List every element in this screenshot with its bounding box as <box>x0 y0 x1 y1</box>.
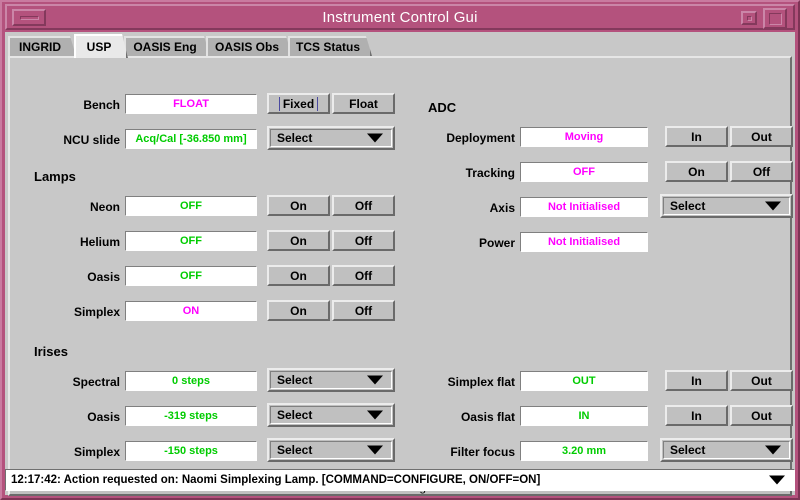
iris-spectral-select[interactable]: Select <box>267 368 395 392</box>
chevron-down-icon <box>765 446 781 455</box>
tab-oasis-obs[interactable]: OASIS Obs <box>206 36 292 56</box>
button-label: Float <box>349 97 378 111</box>
lamp-oasis-off-button[interactable]: Off <box>332 265 395 286</box>
iris-simplex-label: Simplex <box>40 445 120 459</box>
restore-icon <box>747 16 752 21</box>
combo-inner: Select <box>663 197 790 215</box>
button-label: In <box>691 374 702 388</box>
iris-oasis-value: -319 steps <box>125 406 257 426</box>
adc-tracking-off-button[interactable]: Off <box>730 161 793 182</box>
lamp-oasis-on-button[interactable]: On <box>267 265 330 286</box>
adc-tracking-value: OFF <box>520 162 648 182</box>
lamp-oasis-label: Oasis <box>40 270 120 284</box>
adc-tracking-on-button[interactable]: On <box>665 161 728 182</box>
combo-value: Select <box>277 443 312 457</box>
button-label: Off <box>355 234 372 248</box>
lamp-helium-value: OFF <box>125 231 257 251</box>
tab-label: INGRID <box>19 40 61 54</box>
button-label: On <box>290 269 307 283</box>
tab-label: TCS Status <box>296 40 360 54</box>
button-label: In <box>691 409 702 423</box>
oasis-flat-value: IN <box>520 406 648 426</box>
window-title: Instrument Control Gui <box>7 6 793 28</box>
bench-label: Bench <box>40 98 120 112</box>
adc-power-value: Not Initialised <box>520 232 648 252</box>
combo-inner: Select <box>270 129 392 147</box>
tab-label: USP <box>87 40 112 54</box>
chevron-down-icon <box>765 202 781 211</box>
iris-oasis-select[interactable]: Select <box>267 403 395 427</box>
bench-fixed-button[interactable]: Fixed <box>267 93 330 114</box>
button-label: Off <box>355 304 372 318</box>
lamps-section-title: Lamps <box>34 169 76 184</box>
adc-section-title: ADC <box>428 100 456 115</box>
button-label: Out <box>751 130 772 144</box>
adc-axis-label: Axis <box>410 201 515 215</box>
lamp-simplex-off-button[interactable]: Off <box>332 300 395 321</box>
lamp-neon-off-button[interactable]: Off <box>332 195 395 216</box>
combo-value: Select <box>277 131 312 145</box>
bench-float-button[interactable]: Float <box>332 93 395 114</box>
combo-inner: Select <box>270 371 392 389</box>
chevron-down-icon <box>367 411 383 420</box>
button-label: Off <box>753 165 770 179</box>
chevron-down-icon <box>367 376 383 385</box>
lamp-neon-label: Neon <box>40 200 120 214</box>
lamp-oasis-value: OFF <box>125 266 257 286</box>
button-label: On <box>290 304 307 318</box>
tab-label: OASIS Obs <box>215 40 279 54</box>
tab-usp[interactable]: USP <box>74 34 128 58</box>
combo-value: Select <box>277 373 312 387</box>
button-label: On <box>290 199 307 213</box>
lamp-neon-on-button[interactable]: On <box>267 195 330 216</box>
application-window: Instrument Control Gui INGRID USP OASIS … <box>0 0 800 500</box>
iris-oasis-label: Oasis <box>40 410 120 424</box>
oasis-flat-in-button[interactable]: In <box>665 405 728 426</box>
lamp-simplex-on-button[interactable]: On <box>267 300 330 321</box>
button-label: On <box>688 165 705 179</box>
combo-inner: Select <box>270 441 392 459</box>
simplex-flat-value: OUT <box>520 371 648 391</box>
restore-button[interactable] <box>741 11 757 25</box>
oasis-flat-label: Oasis flat <box>403 410 515 424</box>
adc-power-label: Power <box>410 236 515 250</box>
simplex-flat-out-button[interactable]: Out <box>730 370 793 391</box>
button-label: On <box>290 234 307 248</box>
combo-inner: Select <box>663 441 790 459</box>
adc-deployment-value: Moving <box>520 127 648 147</box>
combo-value: Select <box>277 408 312 422</box>
tab-bar: INGRID USP OASIS Eng OASIS Obs TCS Statu… <box>8 34 792 56</box>
lamp-helium-off-button[interactable]: Off <box>332 230 395 251</box>
adc-deployment-label: Deployment <box>410 131 515 145</box>
usp-panel: Bench FLOAT Fixed Float NCU slide Acq/Ca… <box>8 56 792 474</box>
button-label: Off <box>355 269 372 283</box>
iris-spectral-value: 0 steps <box>125 371 257 391</box>
button-label: Out <box>751 409 772 423</box>
button-label: Out <box>751 374 772 388</box>
iris-spectral-label: Spectral <box>40 375 120 389</box>
lamp-helium-on-button[interactable]: On <box>267 230 330 251</box>
title-bar[interactable]: Instrument Control Gui <box>5 4 795 30</box>
filter-focus-label: Filter focus <box>403 445 515 459</box>
ncu-slide-value: Acq/Cal [-36.850 mm] <box>125 129 257 149</box>
simplex-flat-in-button[interactable]: In <box>665 370 728 391</box>
irises-section-title: Irises <box>34 344 68 359</box>
chevron-down-icon <box>367 134 383 143</box>
tab-tcs-status[interactable]: TCS Status <box>288 36 372 56</box>
button-label: Off <box>355 199 372 213</box>
log-message-bar[interactable]: 12:17:42: Action requested on: Naomi Sim… <box>5 469 795 491</box>
button-label: In <box>691 130 702 144</box>
maximize-icon <box>769 13 782 25</box>
tab-ingrid[interactable]: INGRID <box>8 36 76 56</box>
filter-focus-value: 3.20 mm <box>520 441 648 461</box>
tab-oasis-eng[interactable]: OASIS Eng <box>124 36 210 56</box>
adc-axis-select[interactable]: Select <box>660 194 793 218</box>
chevron-down-icon <box>367 446 383 455</box>
adc-deployment-out-button[interactable]: Out <box>730 126 793 147</box>
lamp-helium-label: Helium <box>40 235 120 249</box>
log-message-text: 12:17:42: Action requested on: Naomi Sim… <box>11 474 540 486</box>
bench-value: FLOAT <box>125 94 257 114</box>
oasis-flat-out-button[interactable]: Out <box>730 405 793 426</box>
tab-label: OASIS Eng <box>133 40 196 54</box>
iris-simplex-value: -150 steps <box>125 441 257 461</box>
lamp-simplex-value: ON <box>125 301 257 321</box>
adc-tracking-label: Tracking <box>410 166 515 180</box>
maximize-button[interactable] <box>763 8 787 29</box>
button-label: Fixed <box>279 97 318 111</box>
simplex-flat-label: Simplex flat <box>403 375 515 389</box>
chevron-down-icon[interactable] <box>769 476 785 485</box>
adc-deployment-in-button[interactable]: In <box>665 126 728 147</box>
combo-value: Select <box>670 443 705 457</box>
combo-value: Select <box>670 199 705 213</box>
lamp-neon-value: OFF <box>125 196 257 216</box>
iris-simplex-select[interactable]: Select <box>267 438 395 462</box>
lamp-simplex-label: Simplex <box>40 305 120 319</box>
adc-axis-value: Not Initialised <box>520 197 648 217</box>
combo-inner: Select <box>270 406 392 424</box>
client-area: INGRID USP OASIS Eng OASIS Obs TCS Statu… <box>5 32 795 495</box>
filter-focus-select[interactable]: Select <box>660 438 793 462</box>
ncu-slide-label: NCU slide <box>30 133 120 147</box>
ncu-slide-select[interactable]: Select <box>267 126 395 150</box>
